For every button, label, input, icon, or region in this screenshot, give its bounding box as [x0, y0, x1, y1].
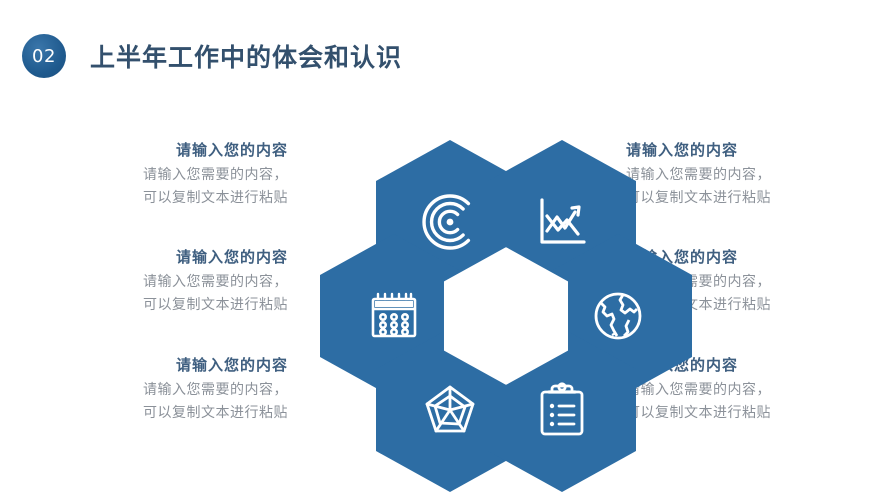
section-number-badge: 02	[22, 34, 66, 78]
text-block-title: 请输入您的内容	[626, 140, 862, 160]
radar-signal-icon	[422, 194, 478, 250]
text-block-line-1: 请输入您需要的内容，	[52, 379, 288, 402]
hexagon-cluster	[296, 136, 602, 428]
globe-icon	[590, 288, 646, 344]
slide-header: 02 上半年工作中的体会和认识	[0, 30, 402, 82]
text-block-right-top: 请输入您的内容 请输入您需要的内容， 可以复制文本进行粘贴	[626, 140, 862, 210]
text-block-line-1: 请输入您需要的内容，	[626, 379, 862, 402]
text-block-line-2: 可以复制文本进行粘贴	[52, 294, 288, 317]
text-block-left-bottom: 请输入您的内容 请输入您需要的内容， 可以复制文本进行粘贴	[52, 355, 288, 425]
text-block-line-2: 可以复制文本进行粘贴	[626, 402, 862, 425]
text-block-left-middle: 请输入您的内容 请输入您需要的内容， 可以复制文本进行粘贴	[52, 247, 288, 317]
text-block-line-2: 可以复制文本进行粘贴	[52, 402, 288, 425]
text-block-title: 请输入您的内容	[52, 355, 288, 375]
radar-pentagon-chart-icon	[422, 382, 478, 438]
text-block-left-top: 请输入您的内容 请输入您需要的内容， 可以复制文本进行粘贴	[52, 140, 288, 210]
text-block-title: 请输入您的内容	[52, 247, 288, 267]
text-block-line-1: 请输入您需要的内容，	[52, 164, 288, 187]
line-chart-icon	[534, 194, 590, 250]
text-block-title: 请输入您的内容	[52, 140, 288, 160]
page-title: 上半年工作中的体会和认识	[90, 38, 402, 74]
text-block-line-2: 可以复制文本进行粘贴	[52, 187, 288, 210]
clipboard-checklist-icon	[534, 382, 590, 438]
text-block-line-2: 可以复制文本进行粘贴	[626, 187, 862, 210]
text-block-line-1: 请输入您需要的内容，	[626, 164, 862, 187]
text-block-line-1: 请输入您需要的内容，	[52, 271, 288, 294]
calendar-icon	[366, 288, 422, 344]
